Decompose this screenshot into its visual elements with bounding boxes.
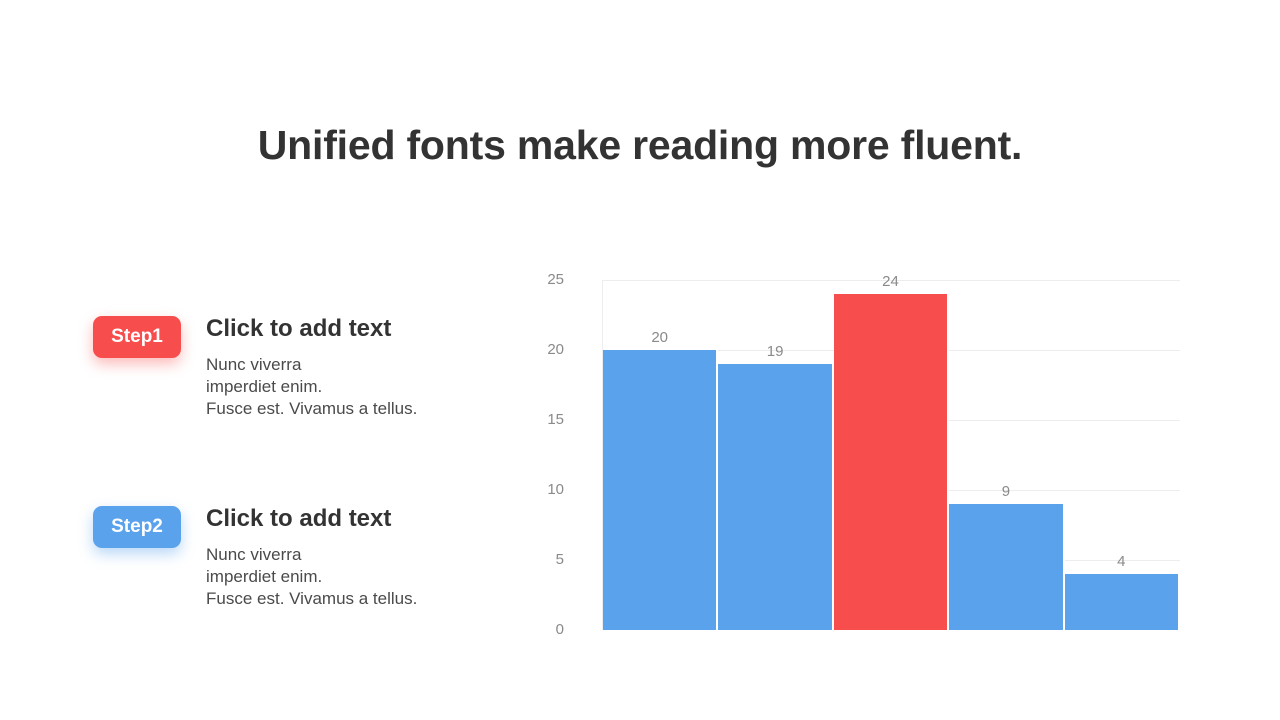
step-heading-1[interactable]: Click to add text bbox=[206, 314, 506, 344]
bar-value-label: 24 bbox=[834, 273, 947, 294]
chart-bar[interactable]: 9 bbox=[949, 504, 1064, 630]
chart-plot-area: 051015202520192494 bbox=[602, 280, 1180, 630]
chart-bar[interactable]: 4 bbox=[1065, 574, 1180, 630]
bar-value-label: 19 bbox=[718, 343, 831, 364]
steps-list: Step1 Click to add text Nunc viverraimpe… bbox=[93, 316, 513, 696]
step-body-1-line-1a: Nunc viverra bbox=[206, 354, 506, 376]
step-text-2: Click to add text Nunc viverraimperdiet … bbox=[206, 504, 506, 610]
step-body-2-line-1: Nunc viverraimperdiet enim. bbox=[206, 544, 506, 588]
step-item-1[interactable]: Step1 Click to add text Nunc viverraimpe… bbox=[93, 316, 513, 506]
chart-bar[interactable]: 24 bbox=[834, 294, 949, 630]
chart-bar[interactable]: 20 bbox=[603, 350, 718, 630]
step-body-1[interactable]: Nunc viverraimperdiet enim. Fusce est. V… bbox=[206, 354, 506, 420]
y-axis-tick-label: 10 bbox=[504, 481, 564, 498]
bar-value-label: 4 bbox=[1065, 553, 1178, 574]
y-axis-tick-label: 0 bbox=[504, 621, 564, 638]
step-badge-1[interactable]: Step1 bbox=[93, 316, 181, 358]
step-body-2-line-1b: imperdiet enim. bbox=[206, 566, 506, 588]
page-title: Unified fonts make reading more fluent. bbox=[0, 122, 1280, 169]
bar-value-label: 20 bbox=[603, 329, 716, 350]
bar-value-label: 9 bbox=[949, 483, 1062, 504]
y-axis-tick-label: 15 bbox=[504, 411, 564, 428]
step-heading-2[interactable]: Click to add text bbox=[206, 504, 506, 534]
step-body-2[interactable]: Nunc viverraimperdiet enim. Fusce est. V… bbox=[206, 544, 506, 610]
y-axis-tick-label: 25 bbox=[504, 271, 564, 288]
chart-bar[interactable]: 19 bbox=[718, 364, 833, 630]
step-body-1-line-1: Nunc viverraimperdiet enim. bbox=[206, 354, 506, 398]
step-badge-label-2: Step2 bbox=[111, 516, 163, 538]
y-axis-tick-label: 5 bbox=[504, 551, 564, 568]
step-badge-label-1: Step1 bbox=[111, 326, 163, 348]
step-body-1-line-2: Fusce est. Vivamus a tellus. bbox=[206, 398, 506, 420]
step-badge-2[interactable]: Step2 bbox=[93, 506, 181, 548]
step-item-2[interactable]: Step2 Click to add text Nunc viverraimpe… bbox=[93, 506, 513, 696]
step-body-1-line-1b: imperdiet enim. bbox=[206, 376, 506, 398]
step-text-1: Click to add text Nunc viverraimperdiet … bbox=[206, 314, 506, 420]
step-body-2-line-1a: Nunc viverra bbox=[206, 544, 506, 566]
step-body-2-line-2: Fusce est. Vivamus a tellus. bbox=[206, 588, 506, 610]
y-axis-tick-label: 20 bbox=[504, 341, 564, 358]
bar-chart: 051015202520192494 bbox=[602, 280, 1180, 630]
